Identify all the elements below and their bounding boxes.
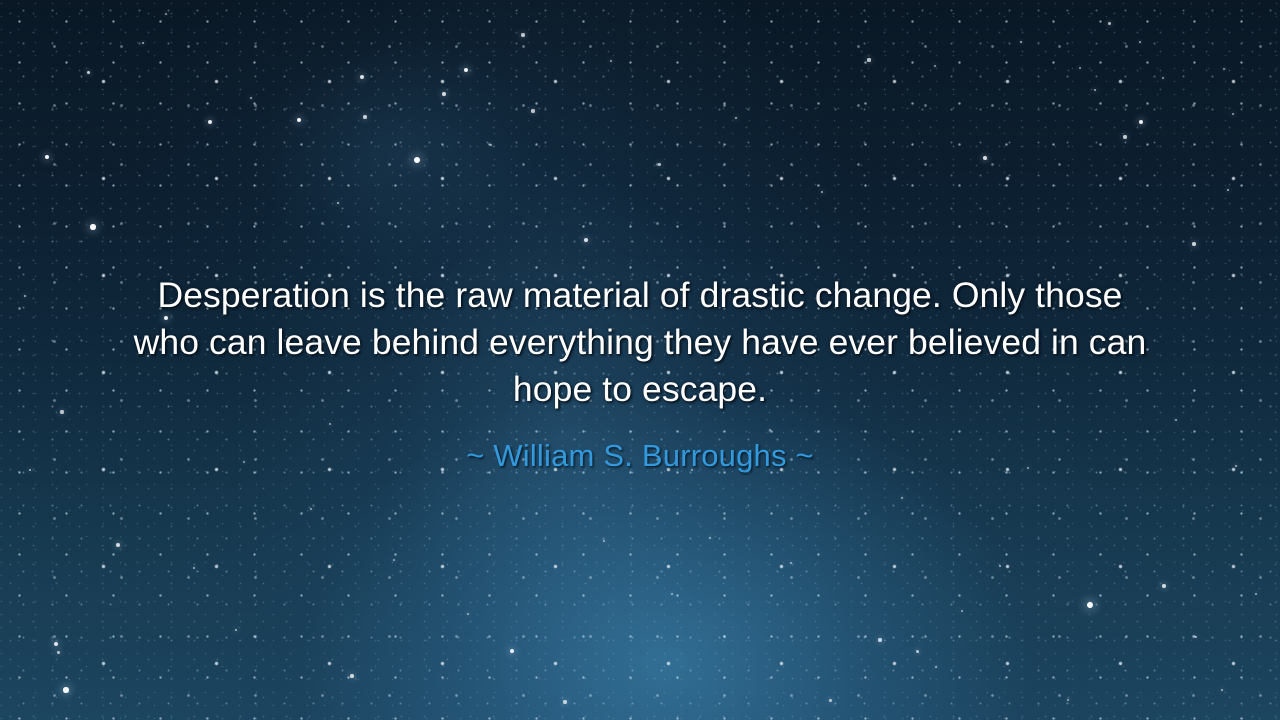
quote-line-2: who can leave behind everything they hav… [0, 319, 1280, 366]
quote-line-1: Desperation is the raw material of drast… [0, 272, 1280, 319]
quote-slide: Desperation is the raw material of drast… [0, 0, 1280, 720]
quote-attribution: ~ William S. Burroughs ~ [0, 437, 1280, 475]
quote-text-block: Desperation is the raw material of drast… [0, 272, 1280, 413]
quote-line-3: hope to escape. [0, 366, 1280, 413]
attribution-block: ~ William S. Burroughs ~ [0, 437, 1280, 475]
